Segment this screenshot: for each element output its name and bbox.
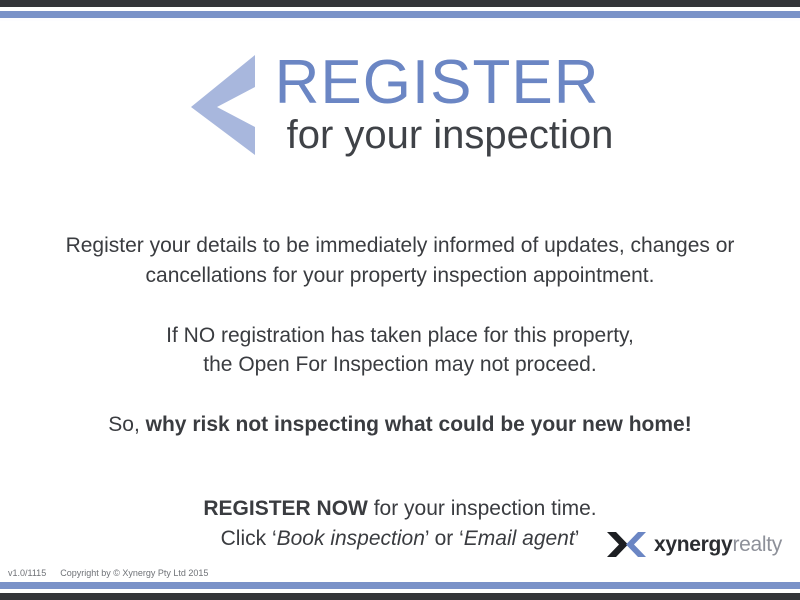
version-label: v1.0/1115 — [8, 568, 46, 578]
paragraph-register-details: Register your details to be immediately … — [50, 231, 750, 291]
bottom-rule-dark — [0, 593, 800, 600]
chevron-left-icon — [187, 51, 259, 159]
top-rule-blue — [0, 11, 800, 18]
page-header: REGISTER for your inspection — [0, 51, 800, 159]
book-inspection-label: Book inspection — [277, 527, 425, 550]
no-registration-line-2: the Open For Inspection may not proceed. — [203, 353, 596, 376]
top-rule-dark — [0, 0, 800, 7]
page-title: REGISTER — [275, 54, 600, 113]
register-now-bold: REGISTER NOW — [203, 497, 368, 520]
header-lockup: REGISTER for your inspection — [187, 51, 614, 159]
paragraph-no-registration: If NO registration has taken place for t… — [50, 321, 750, 381]
meta-strip: v1.0/1115 Copyright by © Xynergy Pty Ltd… — [8, 568, 208, 578]
click-instruction-suffix: ’ — [575, 527, 580, 550]
click-instruction-prefix: Click ‘ — [221, 527, 277, 550]
body-copy: Register your details to be immediately … — [50, 201, 750, 554]
copyright-label: Copyright by © Xynergy Pty Ltd 2015 — [60, 568, 208, 578]
email-agent-label: Email agent — [464, 527, 575, 550]
why-risk-bold: why risk not inspecting what could be yo… — [146, 413, 692, 436]
page-subtitle: for your inspection — [287, 114, 614, 156]
register-inspection-page: REGISTER for your inspection Register yo… — [0, 0, 800, 600]
brand-name-light: realty — [732, 533, 782, 556]
click-instruction-middle: ’ or ‘ — [425, 527, 464, 550]
why-risk-prefix: So, — [108, 413, 145, 436]
bottom-rule-blue — [0, 582, 800, 589]
brand-name-bold: xynergy — [654, 533, 732, 556]
brand-wordmark: xynergyrealty — [654, 533, 782, 557]
brand-logo: xynergyrealty — [607, 531, 782, 558]
register-now-rest: for your inspection time. — [368, 497, 597, 520]
no-registration-line-1: If NO registration has taken place for t… — [166, 324, 634, 347]
xynergy-x-mark-icon — [607, 531, 647, 558]
page-content: REGISTER for your inspection Register yo… — [0, 21, 800, 582]
paragraph-why-risk: So, why risk not inspecting what could b… — [50, 410, 750, 440]
header-text-block: REGISTER for your inspection — [275, 54, 614, 157]
